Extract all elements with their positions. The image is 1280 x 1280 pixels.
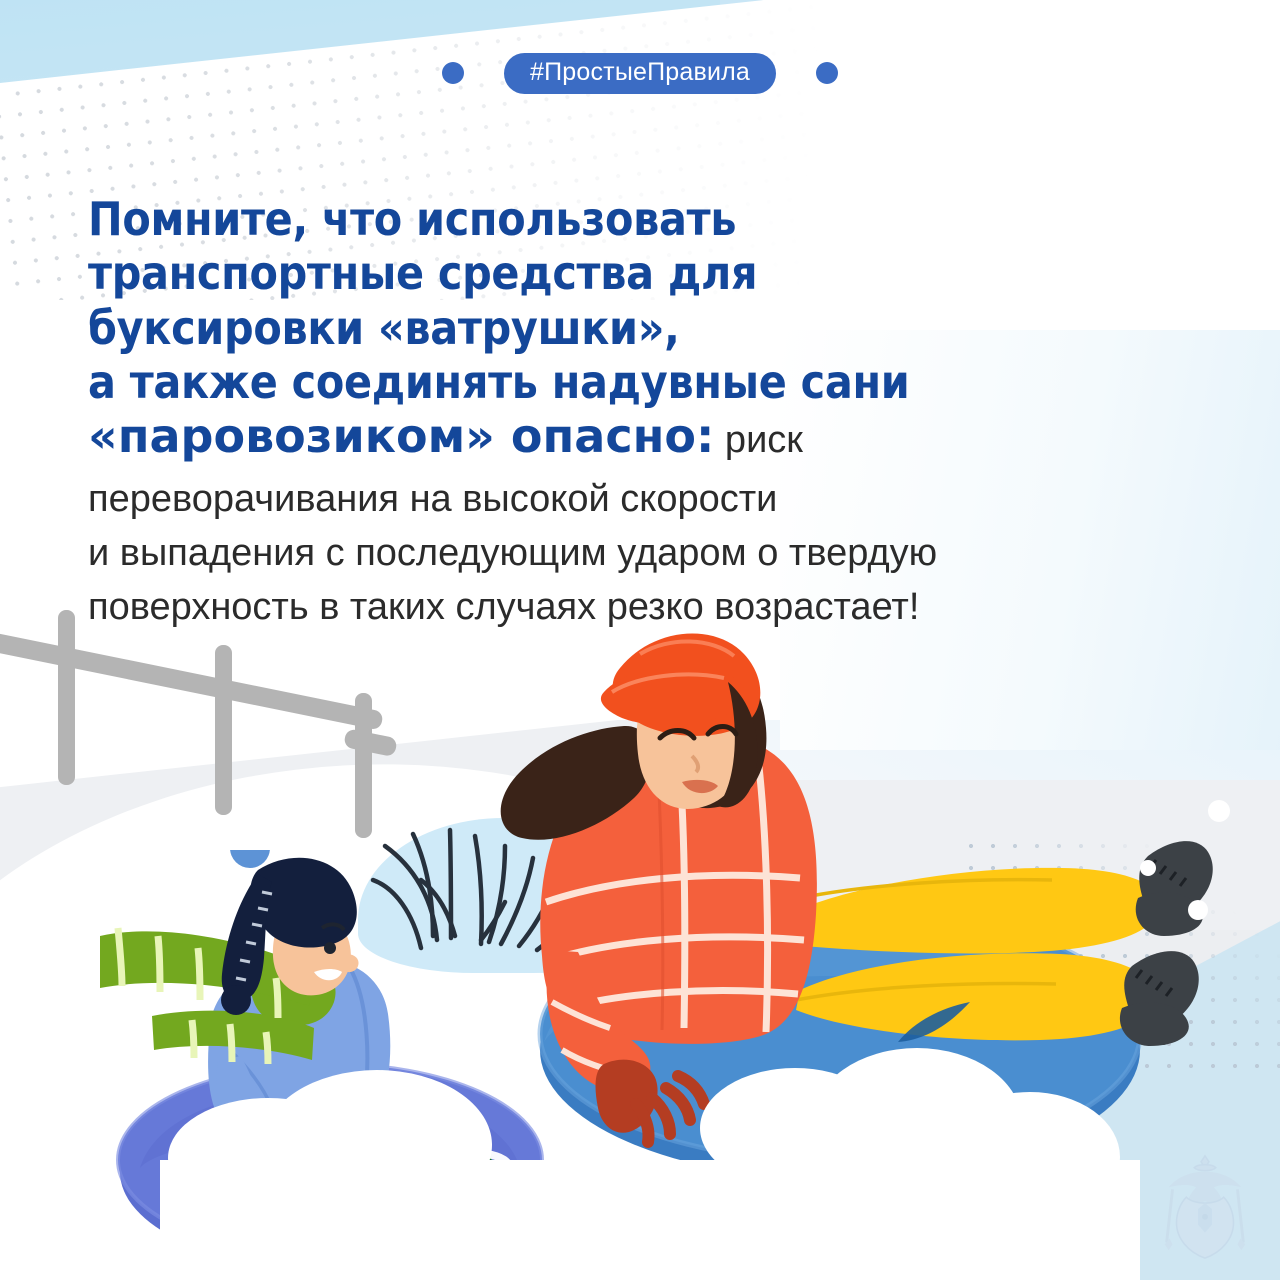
hashtag-badge[interactable]: #ПростыеПравила <box>504 53 776 94</box>
boy-eye <box>324 942 336 954</box>
body-line-2: и выпадения с последующим ударом о тверд… <box>88 527 1198 581</box>
snowflake-3 <box>1188 900 1208 920</box>
headline-line-3: буксировки «ватрушки», <box>88 301 1198 355</box>
headline-line-1: Помните, что использовать <box>88 192 1198 246</box>
boy-beanie-tail-ball <box>221 985 251 1015</box>
fence-post-1 <box>58 610 75 785</box>
headline-line-4: а также соединять надувные сани <box>88 355 1198 409</box>
snowflake-1 <box>1208 800 1230 822</box>
headline-lead-line: «паровозиком» опасно: риск <box>88 409 1198 463</box>
fence-post-3 <box>355 693 372 838</box>
fence-post-2 <box>215 645 232 815</box>
dot-right-icon <box>816 62 838 84</box>
illustration-scene <box>0 600 1280 1280</box>
dot-left-icon <box>442 62 464 84</box>
snow-mound-base <box>160 1160 1140 1280</box>
headline-lead-bold: «паровозиком» опасно: <box>88 409 714 463</box>
hashtag-bar: #ПростыеПравила <box>0 50 1280 96</box>
investigative-committee-emblem-icon <box>1150 1148 1260 1266</box>
body-line-1: переворачивания на высокой скорости <box>88 473 1198 527</box>
poster-canvas: #ПростыеПравила Помните, что использоват… <box>0 0 1280 1280</box>
copy-block: Помните, что использовать транспортные с… <box>88 192 1198 635</box>
headline-lead-regular: риск <box>714 419 803 461</box>
page-title: Помните, что использовать транспортные с… <box>88 192 1198 409</box>
headline-line-2: транспортные средства для <box>88 246 1198 300</box>
boy-beanie-pompom <box>230 850 270 868</box>
snowflake-2 <box>1140 860 1156 876</box>
